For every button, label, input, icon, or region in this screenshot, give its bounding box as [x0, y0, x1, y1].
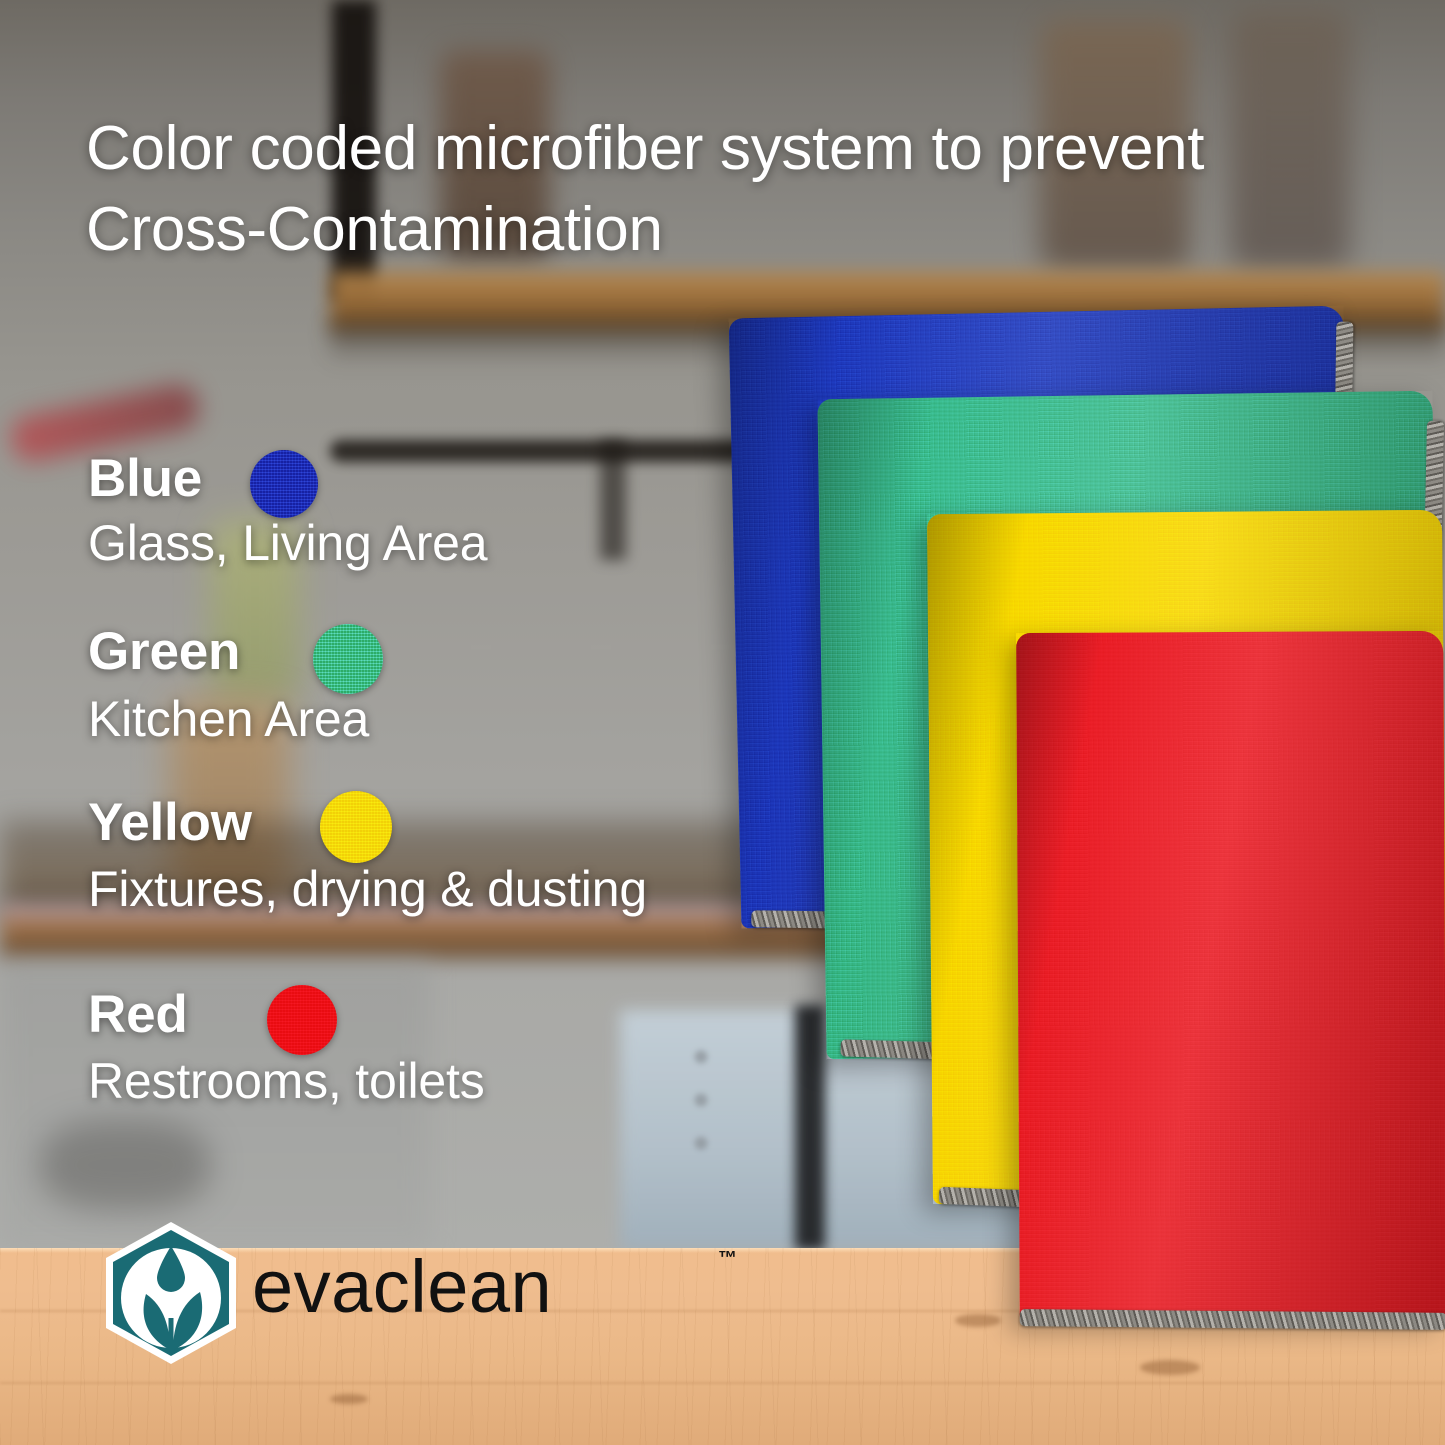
legend-label-red: Red — [88, 988, 188, 1041]
red-microfiber-cloth — [1016, 631, 1445, 1323]
hexagon-droplet-leaves-icon — [96, 1218, 246, 1368]
legend-label-yellow: Yellow — [88, 796, 252, 849]
legend-desc-blue: Glass, Living Area — [88, 518, 487, 568]
green-color-swatch — [313, 624, 383, 694]
blue-color-swatch — [250, 450, 318, 518]
legend-desc-red: Restrooms, toilets — [88, 1056, 485, 1106]
brand-logo[interactable]: evaclean ™ — [96, 1218, 246, 1373]
product-infographic: Color coded microfiber system to prevent… — [0, 0, 1445, 1445]
trademark-symbol: ™ — [718, 1248, 737, 1270]
brand-wordmark: evaclean — [252, 1250, 552, 1324]
legend-label-blue: Blue — [88, 452, 202, 505]
headline: Color coded microfiber system to prevent… — [86, 108, 1386, 270]
cloth-hem-stitching — [1020, 1309, 1445, 1330]
red-color-swatch — [267, 985, 337, 1055]
legend-label-green: Green — [88, 625, 240, 678]
legend-desc-yellow: Fixtures, drying & dusting — [88, 864, 647, 914]
yellow-color-swatch — [320, 791, 392, 863]
legend-desc-green: Kitchen Area — [88, 694, 369, 744]
